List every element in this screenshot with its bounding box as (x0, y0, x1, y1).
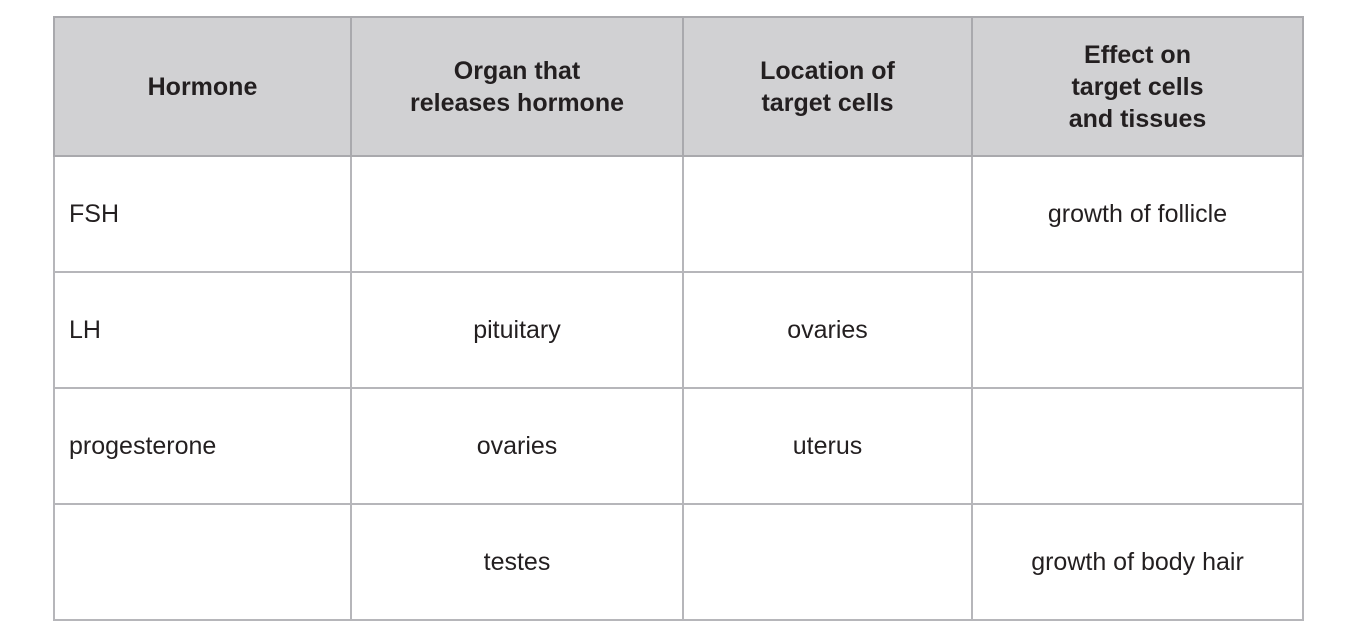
cell-location[interactable]: uterus (683, 388, 972, 504)
cell-organ[interactable]: testes (351, 504, 683, 620)
table-header: Hormone Organ that releases hormone Loca… (54, 17, 1303, 156)
cell-effect[interactable] (972, 272, 1303, 388)
cell-hormone[interactable]: LH (54, 272, 351, 388)
table-row: LH pituitary ovaries (54, 272, 1303, 388)
cell-organ[interactable] (351, 156, 683, 272)
column-header-effect: Effect on target cells and tissues (972, 17, 1303, 156)
cell-location[interactable]: ovaries (683, 272, 972, 388)
cell-hormone[interactable]: progesterone (54, 388, 351, 504)
cell-hormone[interactable] (54, 504, 351, 620)
column-header-location-line-2: target cells (692, 87, 963, 119)
table-row: progesterone ovaries uterus (54, 388, 1303, 504)
column-header-location: Location of target cells (683, 17, 972, 156)
column-header-organ: Organ that releases hormone (351, 17, 683, 156)
column-header-hormone: Hormone (54, 17, 351, 156)
cell-effect[interactable] (972, 388, 1303, 504)
hormone-table: Hormone Organ that releases hormone Loca… (53, 16, 1304, 621)
cell-hormone[interactable]: FSH (54, 156, 351, 272)
cell-organ[interactable]: ovaries (351, 388, 683, 504)
cell-effect[interactable]: growth of body hair (972, 504, 1303, 620)
header-row: Hormone Organ that releases hormone Loca… (54, 17, 1303, 156)
hormone-table-container: Hormone Organ that releases hormone Loca… (53, 16, 1302, 618)
cell-organ[interactable]: pituitary (351, 272, 683, 388)
table-row: testes growth of body hair (54, 504, 1303, 620)
column-header-effect-line-3: and tissues (981, 103, 1294, 135)
column-header-organ-line-2: releases hormone (360, 87, 674, 119)
table-body: FSH growth of follicle LH pituitary ovar… (54, 156, 1303, 620)
column-header-hormone-line-1: Hormone (63, 71, 342, 103)
column-header-effect-line-2: target cells (981, 71, 1294, 103)
table-row: FSH growth of follicle (54, 156, 1303, 272)
column-header-organ-line-1: Organ that (360, 55, 674, 87)
column-header-effect-line-1: Effect on (981, 39, 1294, 71)
cell-location[interactable] (683, 156, 972, 272)
column-header-location-line-1: Location of (692, 55, 963, 87)
cell-location[interactable] (683, 504, 972, 620)
cell-effect[interactable]: growth of follicle (972, 156, 1303, 272)
